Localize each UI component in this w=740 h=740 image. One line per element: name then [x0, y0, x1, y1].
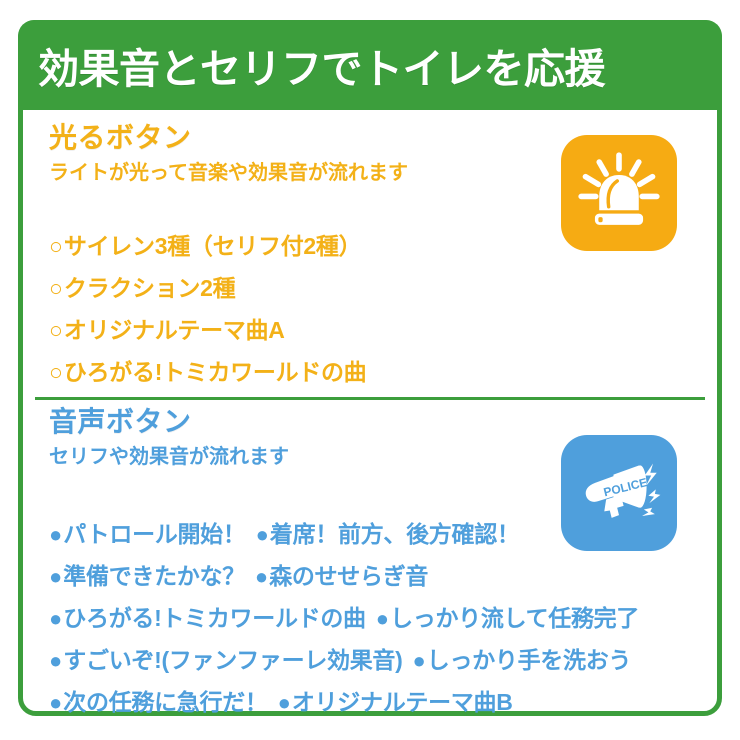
- bullet-icon: ●: [49, 524, 62, 546]
- card-header: 効果音とセリフでトイレを応援: [18, 20, 722, 110]
- list-item: ●オリジナルテーマ曲B: [278, 683, 513, 717]
- bullet-icon: ●: [256, 524, 269, 546]
- list-item-label: 森のせせらぎ音: [269, 557, 428, 591]
- list-item-label: すごいぞ!(ファンファーレ効果音): [63, 641, 402, 675]
- list-item: ●準備できたかな？: [49, 557, 245, 591]
- list-row: ●ひろがる!トミカワールドの曲●しっかり流して任務完了: [49, 599, 709, 641]
- list-row: ○オリジナルテーマ曲A: [49, 311, 709, 353]
- list-item-label: クラクション2種: [64, 269, 235, 303]
- light-button-list: ○サイレン3種（セリフ付2種）○クラクション2種○オリジナルテーマ曲A○ひろがる…: [49, 227, 709, 395]
- section-voice-button: 音声ボタン セリフや効果音が流れます POLICE ●パトロール開始！●着席: [23, 407, 717, 717]
- list-item-label: オリジナルテーマ曲B: [292, 683, 513, 717]
- bullet-icon: ●: [413, 650, 426, 672]
- list-item: ●ひろがる!トミカワールドの曲: [49, 599, 366, 633]
- list-item-label: ひろがる!トミカワールドの曲: [63, 599, 365, 633]
- list-item: ○オリジナルテーマ曲A: [49, 311, 285, 345]
- list-row: ○クラクション2種: [49, 269, 709, 311]
- list-row: ●すごいぞ!(ファンファーレ効果音)●しっかり手を洗おう: [49, 641, 709, 683]
- list-row: ○サイレン3種（セリフ付2種）: [49, 227, 709, 269]
- bullet-icon: ●: [49, 692, 62, 714]
- list-row: ○ひろがる!トミカワールドの曲: [49, 353, 709, 395]
- list-item-label: パトロール開始！: [63, 515, 245, 549]
- list-item-label: オリジナルテーマ曲A: [64, 311, 285, 345]
- list-item-label: サイレン3種（セリフ付2種）: [64, 227, 361, 261]
- list-item: ●すごいぞ!(ファンファーレ効果音): [49, 641, 403, 675]
- bullet-icon: ●: [376, 608, 389, 630]
- list-item: ○クラクション2種: [49, 269, 235, 303]
- bullet-icon: ●: [278, 692, 291, 714]
- section-divider: [35, 397, 705, 400]
- bullet-icon: ●: [49, 650, 62, 672]
- voice-button-list: ●パトロール開始！●着席！前方、後方確認！●準備できたかな？●森のせせらぎ音●ひ…: [49, 515, 709, 725]
- list-item: ○サイレン3種（セリフ付2種）: [49, 227, 361, 261]
- section-voice-title: 音声ボタン: [49, 407, 717, 436]
- list-item: ●森のせせらぎ音: [255, 557, 428, 591]
- list-row: ●次の任務に急行だ！●オリジナルテーマ曲B: [49, 683, 709, 725]
- list-item: ●しっかり手を洗おう: [413, 641, 632, 675]
- bullet-icon: ○: [49, 319, 63, 342]
- list-item: ●パトロール開始！: [49, 515, 246, 549]
- list-item-label: 次の任務に急行だ！: [63, 683, 267, 717]
- list-item: ●しっかり流して任務完了: [376, 599, 639, 633]
- list-item: ●着席！前方、後方確認！: [256, 515, 520, 549]
- product-feature-card: 効果音とセリフでトイレを応援 光るボタン ライトが光って音楽や効果音が流れます: [18, 20, 722, 716]
- list-row: ●パトロール開始！●着席！前方、後方確認！: [49, 515, 709, 557]
- bullet-icon: ○: [49, 235, 63, 258]
- list-item-label: ひろがる!トミカワールドの曲: [64, 353, 366, 387]
- list-item-label: しっかり手を洗おう: [427, 641, 631, 675]
- page-title: 効果音とセリフでトイレを応援: [18, 35, 605, 95]
- list-item-label: しっかり流して任務完了: [390, 599, 639, 633]
- bullet-icon: ●: [49, 566, 62, 588]
- list-item-label: 着席！前方、後方確認！: [270, 515, 520, 549]
- list-item: ○ひろがる!トミカワールドの曲: [49, 353, 366, 387]
- section-light-button: 光るボタン ライトが光って音楽や効果音が流れます ○サイ: [23, 123, 717, 381]
- list-item-label: 準備できたかな？: [63, 557, 245, 591]
- bullet-icon: ●: [255, 566, 268, 588]
- bullet-icon: ●: [49, 608, 62, 630]
- list-row: ●準備できたかな？●森のせせらぎ音: [49, 557, 709, 599]
- list-item: ●次の任務に急行だ！: [49, 683, 268, 717]
- bullet-icon: ○: [49, 277, 63, 300]
- bullet-icon: ○: [49, 361, 63, 384]
